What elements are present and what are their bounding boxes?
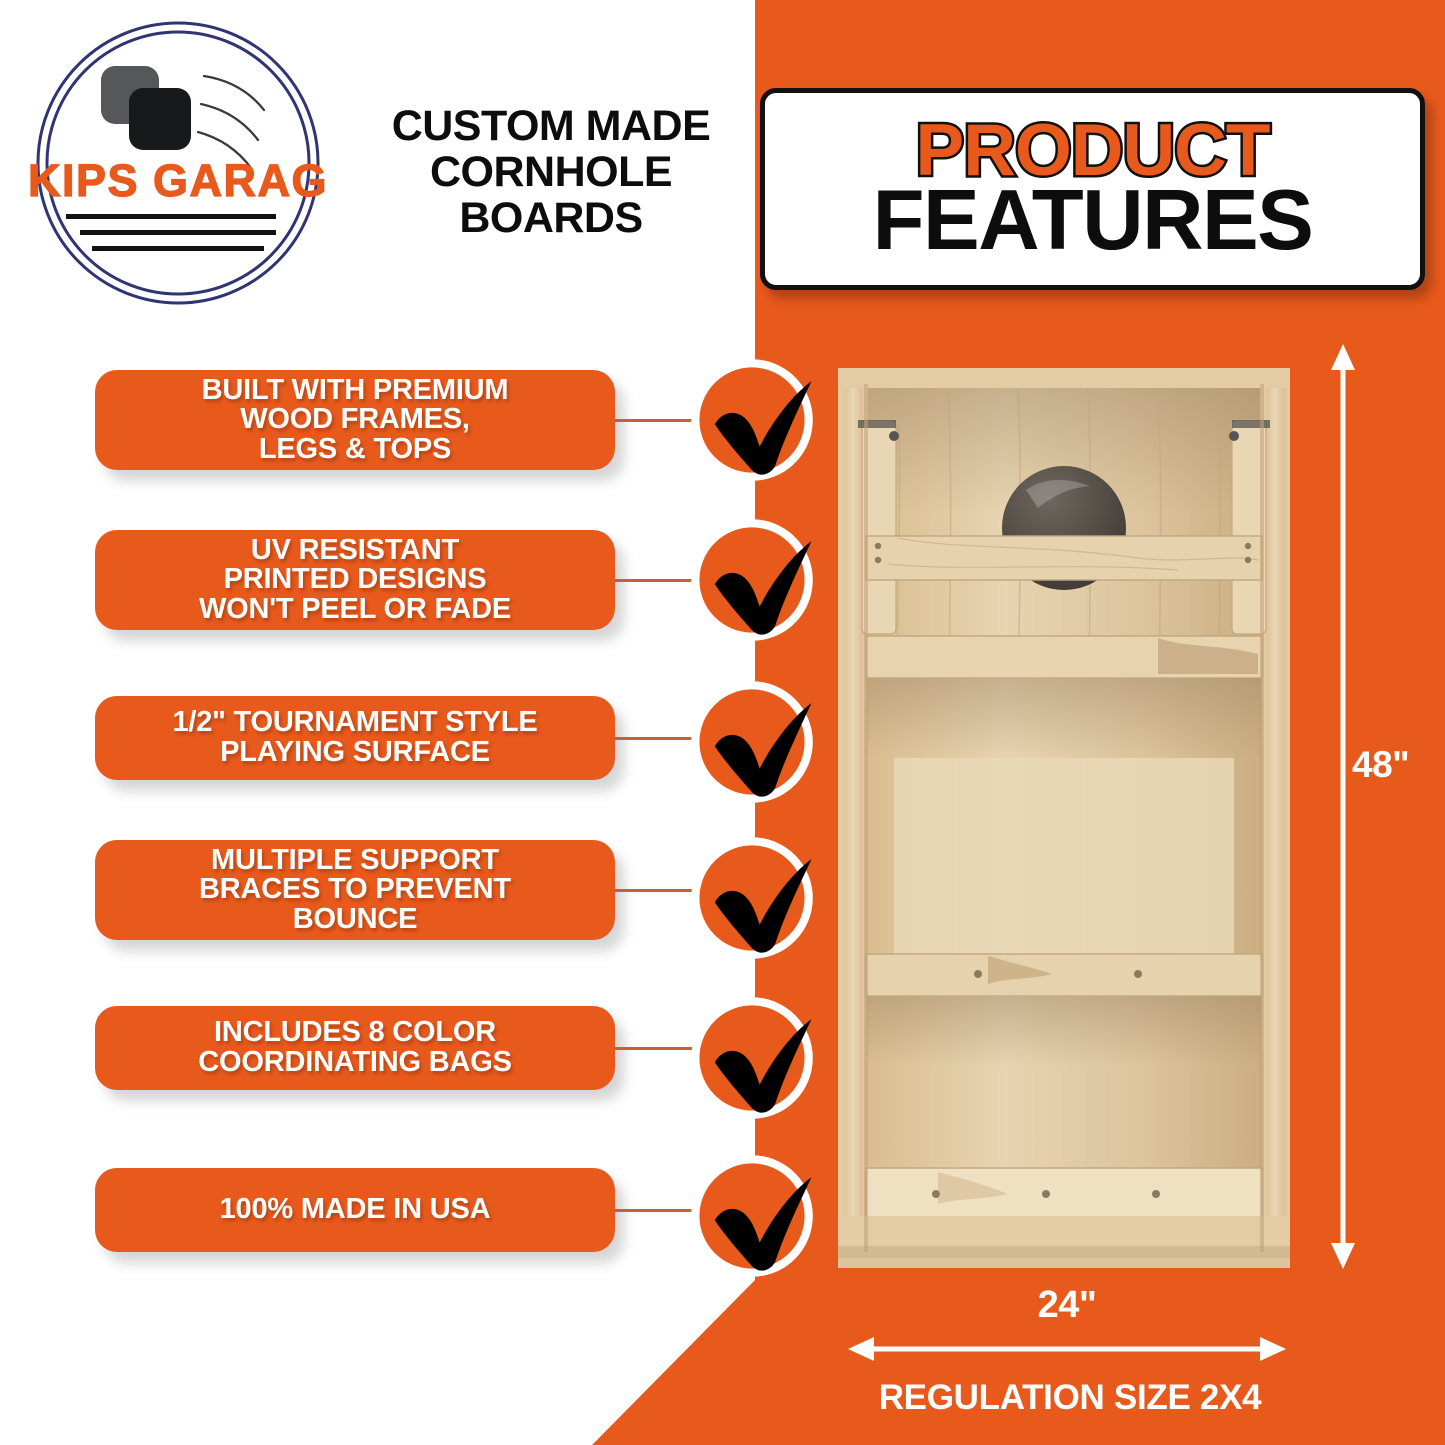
height-dimension-arrow (1329, 344, 1357, 1269)
feature-pill-line: BOUNCE (199, 905, 511, 935)
feature-pill: 100% MADE IN USA (95, 1168, 615, 1252)
product-features-banner: PRODUCT FEATURES (760, 88, 1425, 290)
feature-pill: BUILT WITH PREMIUMWOOD FRAMES,LEGS & TOP… (95, 370, 615, 470)
headline-line-1: CUSTOM MADE (352, 103, 750, 149)
feature-pill-line: UV RESISTANT (199, 536, 511, 566)
svg-text:SKIPS GARAGE: SKIPS GARAGE (28, 155, 328, 206)
feature-pill-line: LEGS & TOPS (202, 435, 509, 465)
infographic-canvas: SKIPS GARAGE CUSTOM MADE CORNHOLE BOARDS… (0, 0, 1445, 1445)
feature-pill-text: INCLUDES 8 COLORCOORDINATING BAGS (198, 1018, 511, 1077)
feature-pill-line: BRACES TO PREVENT (199, 875, 511, 905)
check-mark-icon (688, 356, 816, 484)
feature-connector-line (613, 889, 694, 892)
feature-pill-line: 1/2" TOURNAMENT STYLE (172, 708, 537, 738)
feature-pill-line: WOOD FRAMES, (202, 405, 509, 435)
feature-connector-line (613, 1209, 694, 1212)
feature-pill: MULTIPLE SUPPORTBRACES TO PREVENTBOUNCE (95, 840, 615, 940)
feature-pill: INCLUDES 8 COLORCOORDINATING BAGS (95, 1006, 615, 1090)
feature-pill-line: COORDINATING BAGS (198, 1048, 511, 1078)
feature-pill-text: UV RESISTANTPRINTED DESIGNSWON'T PEEL OR… (199, 536, 511, 625)
check-mark-icon (688, 678, 816, 806)
headline-line-3: BOARDS (352, 195, 750, 241)
feature-connector-line (613, 737, 694, 740)
check-mark-icon (688, 516, 816, 644)
regulation-size-caption: REGULATION SIZE 2X4 (820, 1378, 1320, 1418)
feature-pill-text: MULTIPLE SUPPORTBRACES TO PREVENTBOUNCE (199, 846, 511, 935)
check-mark-icon (688, 834, 816, 962)
feature-pill: UV RESISTANTPRINTED DESIGNSWON'T PEEL OR… (95, 530, 615, 630)
feature-pill-text: 100% MADE IN USA (220, 1195, 491, 1225)
feature-pill-line: INCLUDES 8 COLOR (198, 1018, 511, 1048)
feature-pill-text: 1/2" TOURNAMENT STYLEPLAYING SURFACE (172, 708, 537, 767)
width-dimension-arrow (848, 1336, 1286, 1362)
banner-word-features: FEATURES (873, 181, 1313, 262)
headline-line-2: CORNHOLE (352, 149, 750, 195)
feature-pill-line: MULTIPLE SUPPORT (199, 846, 511, 876)
feature-pill-line: WON'T PEEL OR FADE (199, 595, 511, 625)
cornhole-board-underside-photo (838, 368, 1290, 1268)
check-mark-icon (688, 994, 816, 1122)
height-dimension-label: 48" (1352, 744, 1409, 786)
feature-pill-line: PLAYING SURFACE (172, 738, 537, 768)
brand-logo: SKIPS GARAGE (28, 18, 328, 308)
feature-pill-line: BUILT WITH PREMIUM (202, 376, 509, 406)
page-title: CUSTOM MADE CORNHOLE BOARDS (352, 103, 750, 241)
width-dimension-label: 24" (848, 1284, 1286, 1327)
feature-pill-line: PRINTED DESIGNS (199, 565, 511, 595)
feature-pill: 1/2" TOURNAMENT STYLEPLAYING SURFACE (95, 696, 615, 780)
feature-connector-line (613, 579, 694, 582)
feature-pill-line: 100% MADE IN USA (220, 1195, 491, 1225)
check-mark-icon (688, 1152, 816, 1280)
feature-connector-line (613, 1047, 694, 1050)
feature-connector-line (613, 419, 694, 422)
feature-pill-text: BUILT WITH PREMIUMWOOD FRAMES,LEGS & TOP… (202, 376, 509, 465)
